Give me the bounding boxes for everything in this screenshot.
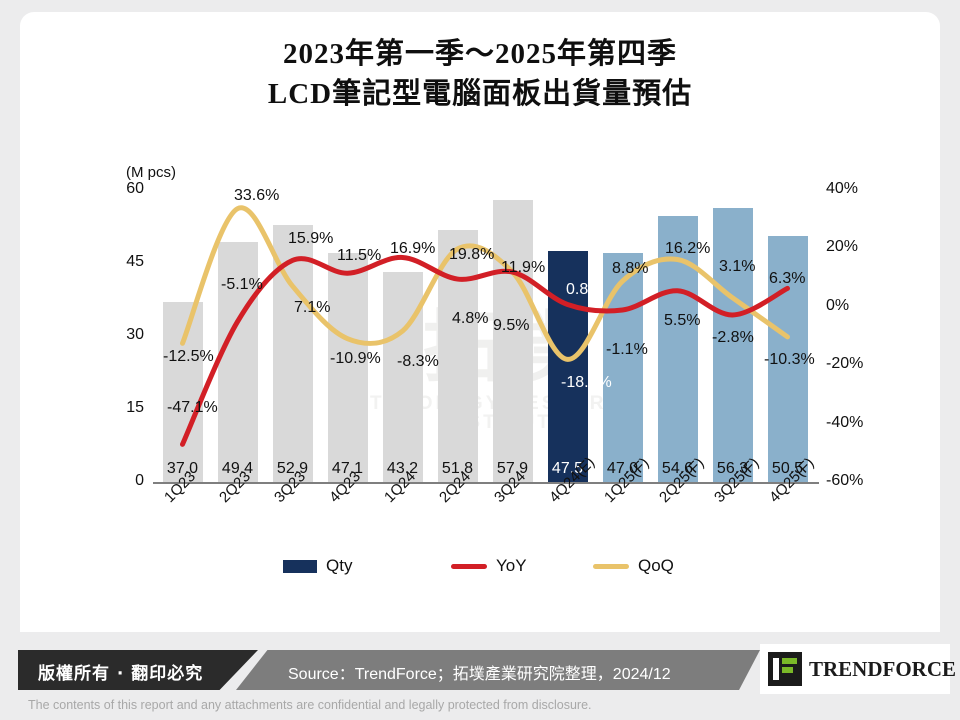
legend-label-yoy: YoY bbox=[496, 556, 527, 576]
point-label-yoy-11: 4.8% bbox=[452, 310, 488, 328]
point-label-qoq-9: -8.3% bbox=[397, 353, 439, 371]
page-title: 2023年第一季～2025年第四季 LCD筆記型電腦面板出貨量預估 bbox=[20, 34, 940, 114]
point-label-yoy-8: 16.9% bbox=[390, 240, 435, 258]
slide-card: 2023年第一季～2025年第四季 LCD筆記型電腦面板出貨量預估 (M pcs… bbox=[20, 12, 940, 632]
legend-swatch-yoy-icon bbox=[451, 564, 487, 569]
point-label-qoq-16: 8.8% bbox=[612, 260, 648, 278]
disclaimer-text: The contents of this report and any atta… bbox=[28, 698, 592, 712]
y2-tick-20pct: 20% bbox=[826, 238, 886, 256]
point-label-yoy-6: 11.5% bbox=[337, 247, 381, 265]
y2-tick--20pct: -20% bbox=[826, 355, 886, 373]
legend-swatch-qty-icon bbox=[283, 560, 317, 573]
point-label-qoq-5: 7.1% bbox=[294, 299, 330, 317]
point-label-yoy-3: -5.1% bbox=[221, 276, 263, 294]
copyright-text: 版權所有 · 翻印必究 bbox=[38, 659, 203, 684]
point-label-yoy-14: 0.8% bbox=[566, 281, 602, 299]
legend-swatch-qoq-icon bbox=[593, 564, 629, 569]
point-label-yoy-1: -47.1% bbox=[167, 399, 218, 417]
point-label-qoq-20: 3.1% bbox=[719, 258, 755, 276]
trendforce-logo: TRENDFORCE bbox=[760, 644, 950, 694]
y2-tick--40pct: -40% bbox=[826, 414, 886, 432]
point-label-qoq-18: 16.2% bbox=[665, 240, 710, 258]
point-label-yoy-17: -1.1% bbox=[606, 341, 648, 359]
y2-tick-40pct: 40% bbox=[826, 180, 886, 198]
title-line-1: 2023年第一季～2025年第四季 bbox=[20, 34, 940, 74]
point-label-qoq-15: -18.0% bbox=[561, 374, 612, 392]
point-label-yoy-21: -2.8% bbox=[712, 329, 754, 347]
line-series-qoq[interactable] bbox=[183, 208, 788, 360]
y2-tick-0pct: 0% bbox=[826, 297, 886, 315]
legend-item-yoy[interactable]: YoY bbox=[451, 556, 527, 576]
legend-label-qty: Qty bbox=[326, 556, 352, 576]
point-label-qoq-7: -10.9% bbox=[330, 350, 381, 368]
point-label-qoq-0: -12.5% bbox=[163, 348, 214, 366]
trendforce-wordmark: TRENDFORCE bbox=[809, 657, 956, 682]
point-label-qoq-12: 11.9% bbox=[501, 259, 545, 277]
point-label-yoy-19: 5.5% bbox=[664, 312, 700, 330]
point-label-yoy-13: 9.5% bbox=[493, 317, 529, 335]
point-label-yoy-22: 6.3% bbox=[769, 270, 805, 288]
x-axis-baseline bbox=[153, 482, 819, 484]
source-text: Source：TrendForce；拓墣產業研究院整理，2024/12 bbox=[288, 660, 671, 684]
y-tick-45: 45 bbox=[98, 253, 144, 271]
point-label-qoq-23: -10.3% bbox=[764, 351, 815, 369]
trendforce-mark-icon bbox=[768, 652, 802, 686]
legend-label-qoq: QoQ bbox=[638, 556, 674, 576]
line-series-yoy[interactable] bbox=[183, 257, 788, 444]
point-label-qoq-10: 19.8% bbox=[449, 246, 494, 264]
y-tick-15: 15 bbox=[98, 399, 144, 417]
source-banner: Source：TrendForce；拓墣產業研究院整理，2024/12 bbox=[236, 650, 760, 690]
y-tick-60: 60 bbox=[98, 180, 144, 198]
title-line-2: LCD筆記型電腦面板出貨量預估 bbox=[20, 74, 940, 114]
copyright-banner: 版權所有 · 翻印必究 bbox=[18, 650, 258, 690]
y-tick-30: 30 bbox=[98, 326, 144, 344]
legend-item-qty[interactable]: Qty bbox=[283, 556, 352, 576]
slide-footer: 版權所有 · 翻印必究 Source：TrendForce；拓墣產業研究院整理，… bbox=[0, 632, 960, 720]
y-axis-unit-label: (M pcs) bbox=[126, 164, 176, 181]
chart-legend: Qty YoY QoQ bbox=[155, 554, 815, 580]
y2-tick--60pct: -60% bbox=[826, 472, 886, 490]
point-label-yoy-4: 15.9% bbox=[288, 230, 333, 248]
y-tick-0: 0 bbox=[98, 472, 144, 490]
legend-item-qoq[interactable]: QoQ bbox=[593, 556, 674, 576]
point-label-qoq-2: 33.6% bbox=[234, 187, 279, 205]
